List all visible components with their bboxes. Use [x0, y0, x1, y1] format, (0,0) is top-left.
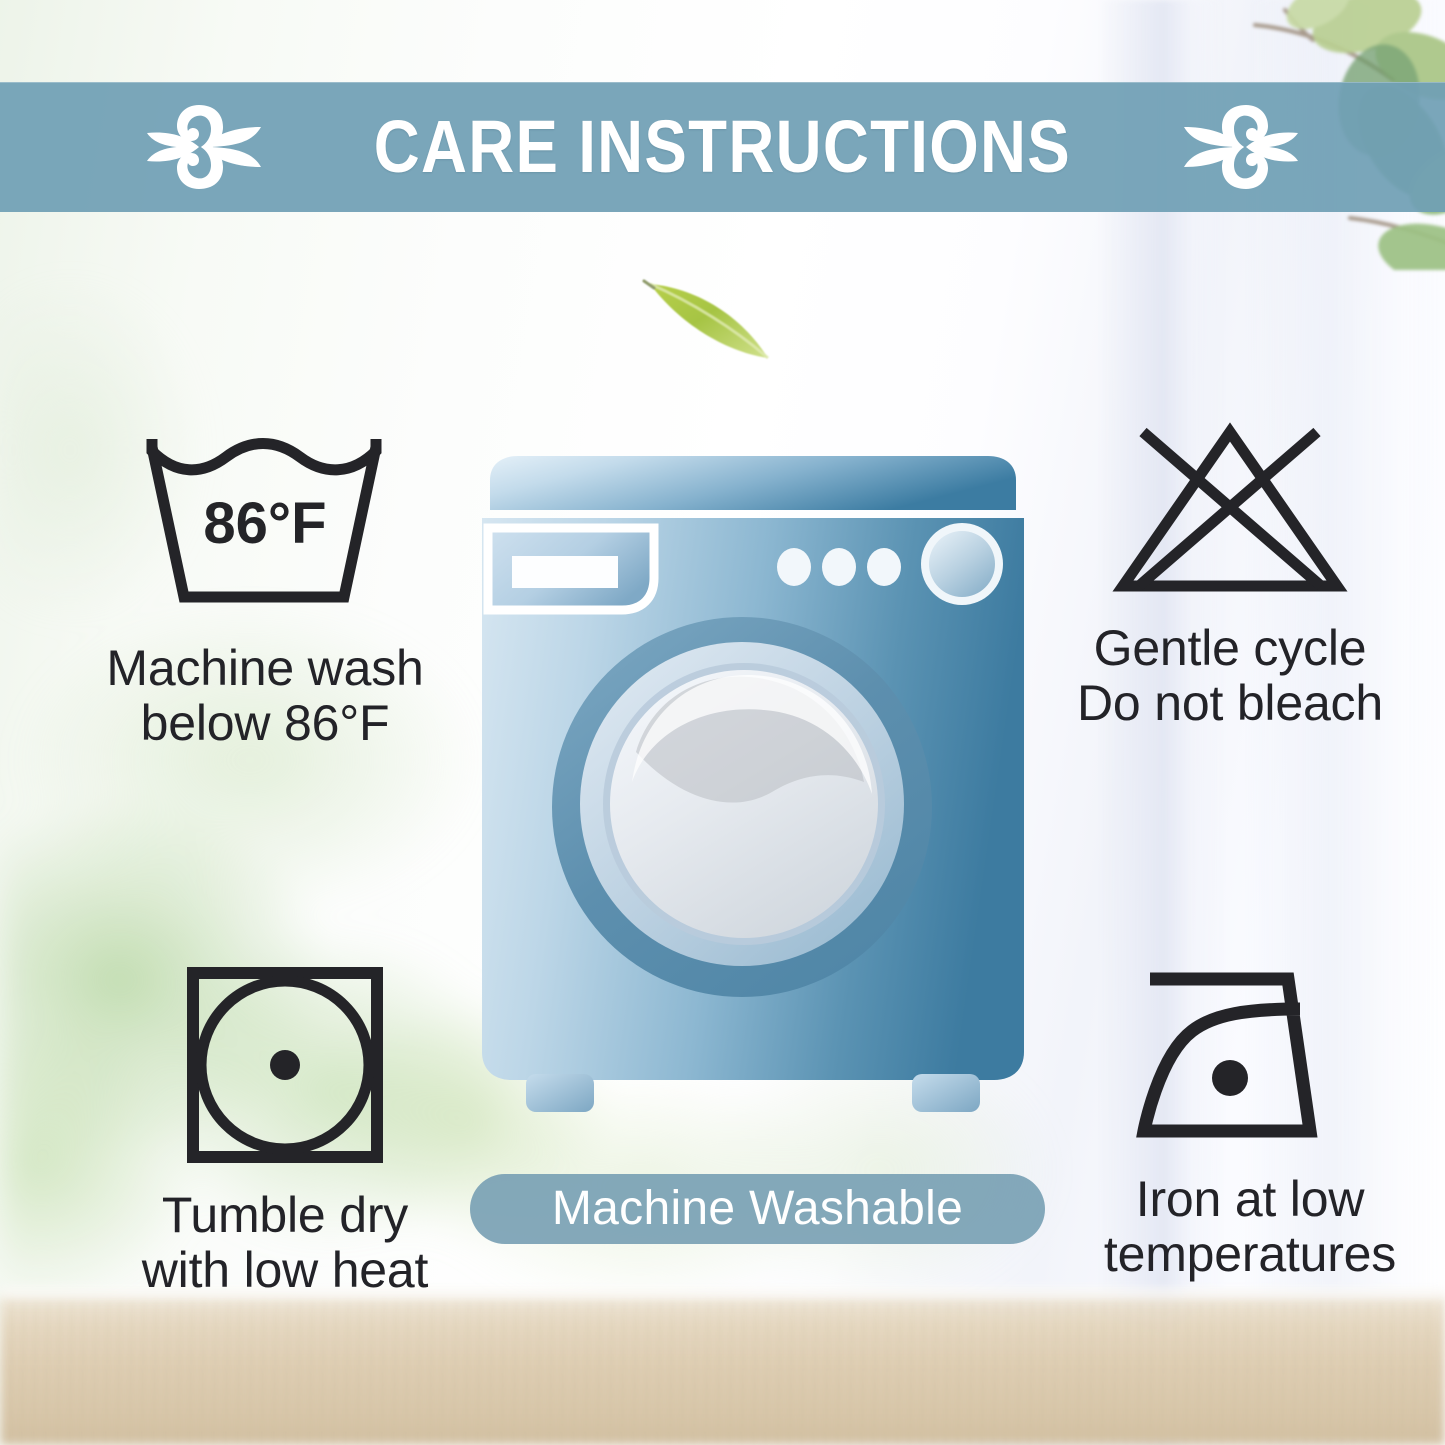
iron-one-dot-icon [1130, 965, 1370, 1150]
washing-machine-illustration [472, 452, 1032, 1132]
care-item-tumble-dry: Tumble dry with low heat [75, 965, 495, 1298]
care-label-do-not-bleach: Gentle cycle Do not bleach [1077, 621, 1383, 731]
washer-foot-right [912, 1074, 980, 1112]
indicator-lights [777, 548, 901, 586]
care-label-machine-wash: Machine wash below 86°F [106, 641, 423, 751]
table-wood-grain [0, 1300, 1445, 1445]
tumble-dry-low-icon [185, 965, 385, 1170]
control-knob [921, 523, 1003, 605]
care-label-iron-low: Iron at low temperatures [1104, 1172, 1396, 1282]
drawer-slot [512, 556, 618, 588]
care-item-iron-low: Iron at low temperatures [1050, 965, 1445, 1282]
machine-washable-badge-label: Machine Washable [552, 1185, 963, 1233]
washer-top-lid [490, 456, 1016, 510]
washer-door [552, 617, 932, 997]
wash-temperature-value: 86°F [203, 491, 326, 556]
page-title: CARE INSTRUCTIONS [374, 110, 1071, 184]
crossed-triangle-icon [1105, 418, 1355, 603]
fleur-de-lis-icon-left [141, 99, 273, 195]
care-instructions-infographic: CARE INSTRUCTIONS [0, 0, 1445, 1445]
floating-leaf-icon [640, 272, 780, 367]
care-item-machine-wash: 86°F Machine wash below 86°F [55, 425, 475, 751]
detergent-drawer [488, 528, 654, 610]
care-item-do-not-bleach: Gentle cycle Do not bleach [1025, 418, 1435, 731]
care-label-tumble-dry: Tumble dry with low heat [142, 1188, 428, 1298]
header-banner: CARE INSTRUCTIONS [0, 82, 1445, 212]
machine-washable-badge: Machine Washable [470, 1174, 1045, 1244]
fleur-de-lis-icon-right [1172, 99, 1304, 195]
washer-foot-left [526, 1074, 594, 1112]
wash-tub-icon: 86°F [140, 425, 390, 625]
